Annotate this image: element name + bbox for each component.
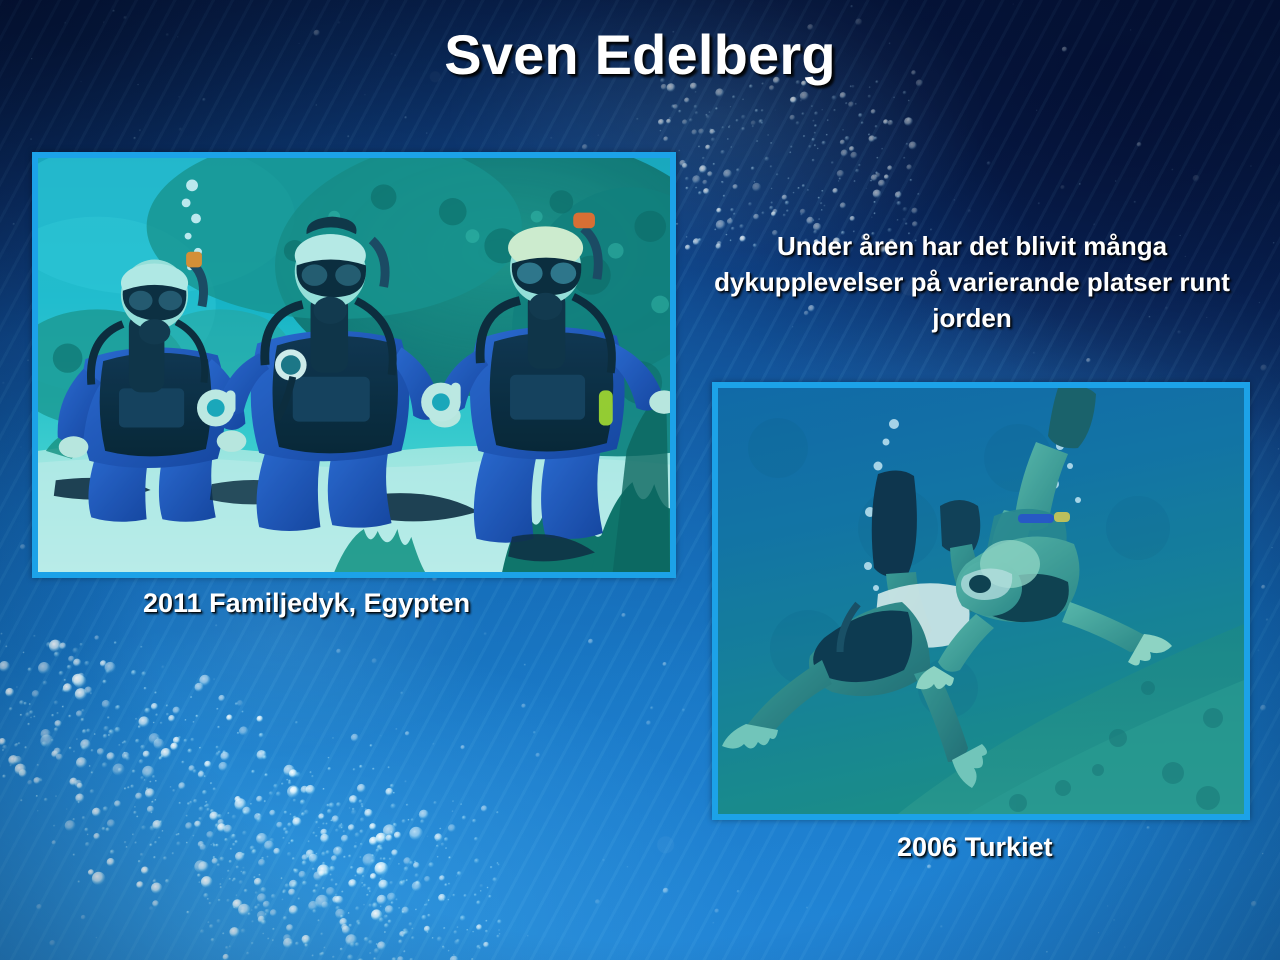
caption-egypt: 2011 Familjedyk, Egypten: [143, 588, 470, 619]
slide-title: Sven Edelberg: [0, 22, 1280, 87]
photo-egypt-image: [38, 158, 670, 572]
caption-turkey: 2006 Turkiet: [897, 832, 1053, 863]
body-paragraph: Under åren har det blivit många dykupple…: [712, 228, 1232, 336]
photo-egypt[interactable]: [32, 152, 676, 578]
presentation-slide: Sven Edelberg Under åren har det blivit …: [0, 0, 1280, 960]
photo-turkey[interactable]: [712, 382, 1250, 820]
photo-turkey-image: [718, 388, 1244, 814]
